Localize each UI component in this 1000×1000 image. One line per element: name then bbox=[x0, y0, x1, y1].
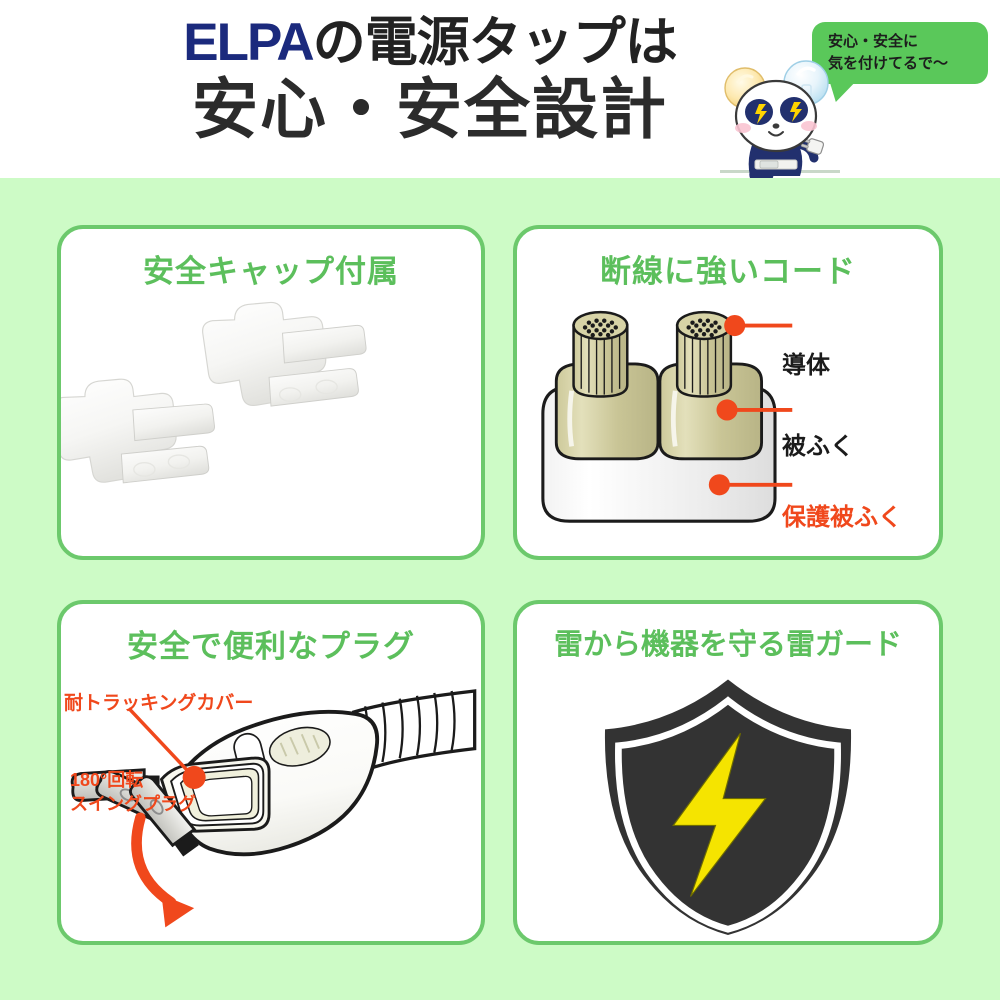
card-safety-cap: 安全キャップ付属 bbox=[57, 225, 485, 560]
card-title-surge-guard: 雷から機器を守る雷ガード bbox=[517, 621, 939, 663]
shield-lightning-icon bbox=[517, 666, 939, 935]
header-band: ELPAの電源タップは 安心・安全設計 安心・安全に 気を付けてるで〜 bbox=[0, 0, 1000, 178]
headline-line1: ELPAの電源タップは bbox=[150, 12, 710, 74]
card-surge-guard: 雷から機器を守る雷ガード bbox=[513, 600, 943, 945]
callout-label-protective-jacket: 保護被ふく bbox=[782, 497, 902, 532]
speech-bubble-text: 安心・安全に 気を付けてるで〜 bbox=[828, 31, 948, 75]
headline-line1-suffix: の電源タップは bbox=[313, 13, 677, 72]
headline: ELPAの電源タップは 安心・安全設計 bbox=[150, 12, 710, 146]
card-title-convenient-plug: 安全で便利なプラグ bbox=[61, 621, 481, 666]
mascot-character bbox=[714, 52, 846, 182]
safety-cap-photo bbox=[61, 291, 481, 550]
callout-label-insulation: 被ふく bbox=[782, 426, 854, 461]
card-title-durable-cord: 断線に強いコード bbox=[517, 246, 939, 291]
infographic-page: ELPAの電源タップは 安心・安全設計 安心・安全に 気を付けてるで〜 bbox=[0, 0, 1000, 1000]
callout-label-conductor: 導体 bbox=[782, 345, 830, 380]
elpa-logo: ELPA bbox=[183, 13, 312, 72]
callout-label-swing-plug: 180°回転 スイングプラグ bbox=[70, 768, 196, 816]
headline-line2: 安心・安全設計 bbox=[150, 72, 710, 146]
card-title-safety-cap: 安全キャップ付属 bbox=[61, 246, 481, 291]
callout-label-tracking-cover: 耐トラッキングカバー bbox=[64, 688, 253, 715]
